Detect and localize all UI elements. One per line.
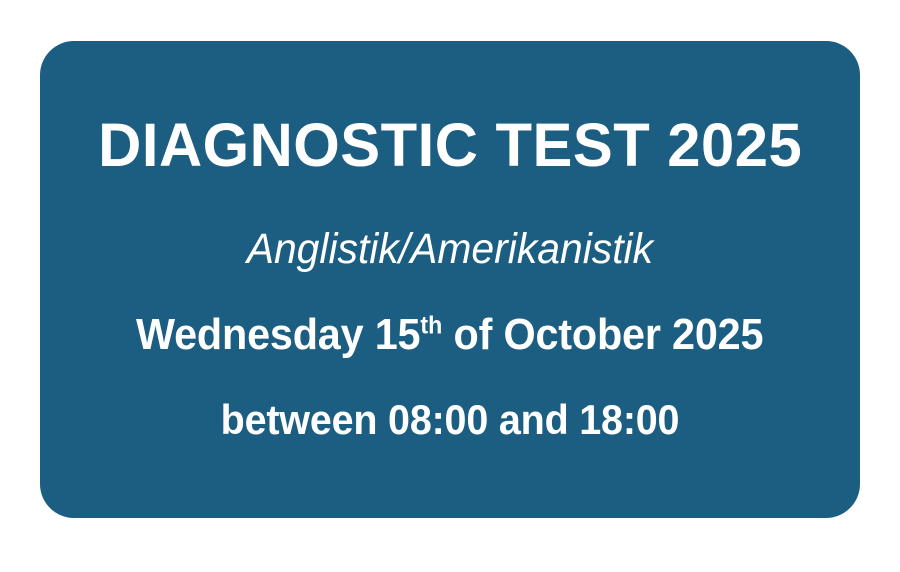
announcement-time: between 08:00 and 18:00	[221, 399, 680, 441]
announcement-date: Wednesday 15th of October 2025	[136, 313, 763, 357]
announcement-date-ordinal-suffix: th	[421, 313, 443, 340]
announcement-text-block: DIAGNOSTIC TEST 2025 Anglistik/Amerikani…	[40, 115, 860, 441]
announcement-card: DIAGNOSTIC TEST 2025 Anglistik/Amerikani…	[40, 41, 860, 518]
announcement-subject: Anglistik/Amerikanistik	[247, 228, 653, 271]
announcement-canvas: DIAGNOSTIC TEST 2025 Anglistik/Amerikani…	[0, 0, 900, 572]
announcement-date-weekday-day: Wednesday 15	[136, 310, 420, 359]
announcement-date-month-year: of October 2025	[443, 310, 764, 359]
announcement-title: DIAGNOSTIC TEST 2025	[98, 115, 802, 176]
